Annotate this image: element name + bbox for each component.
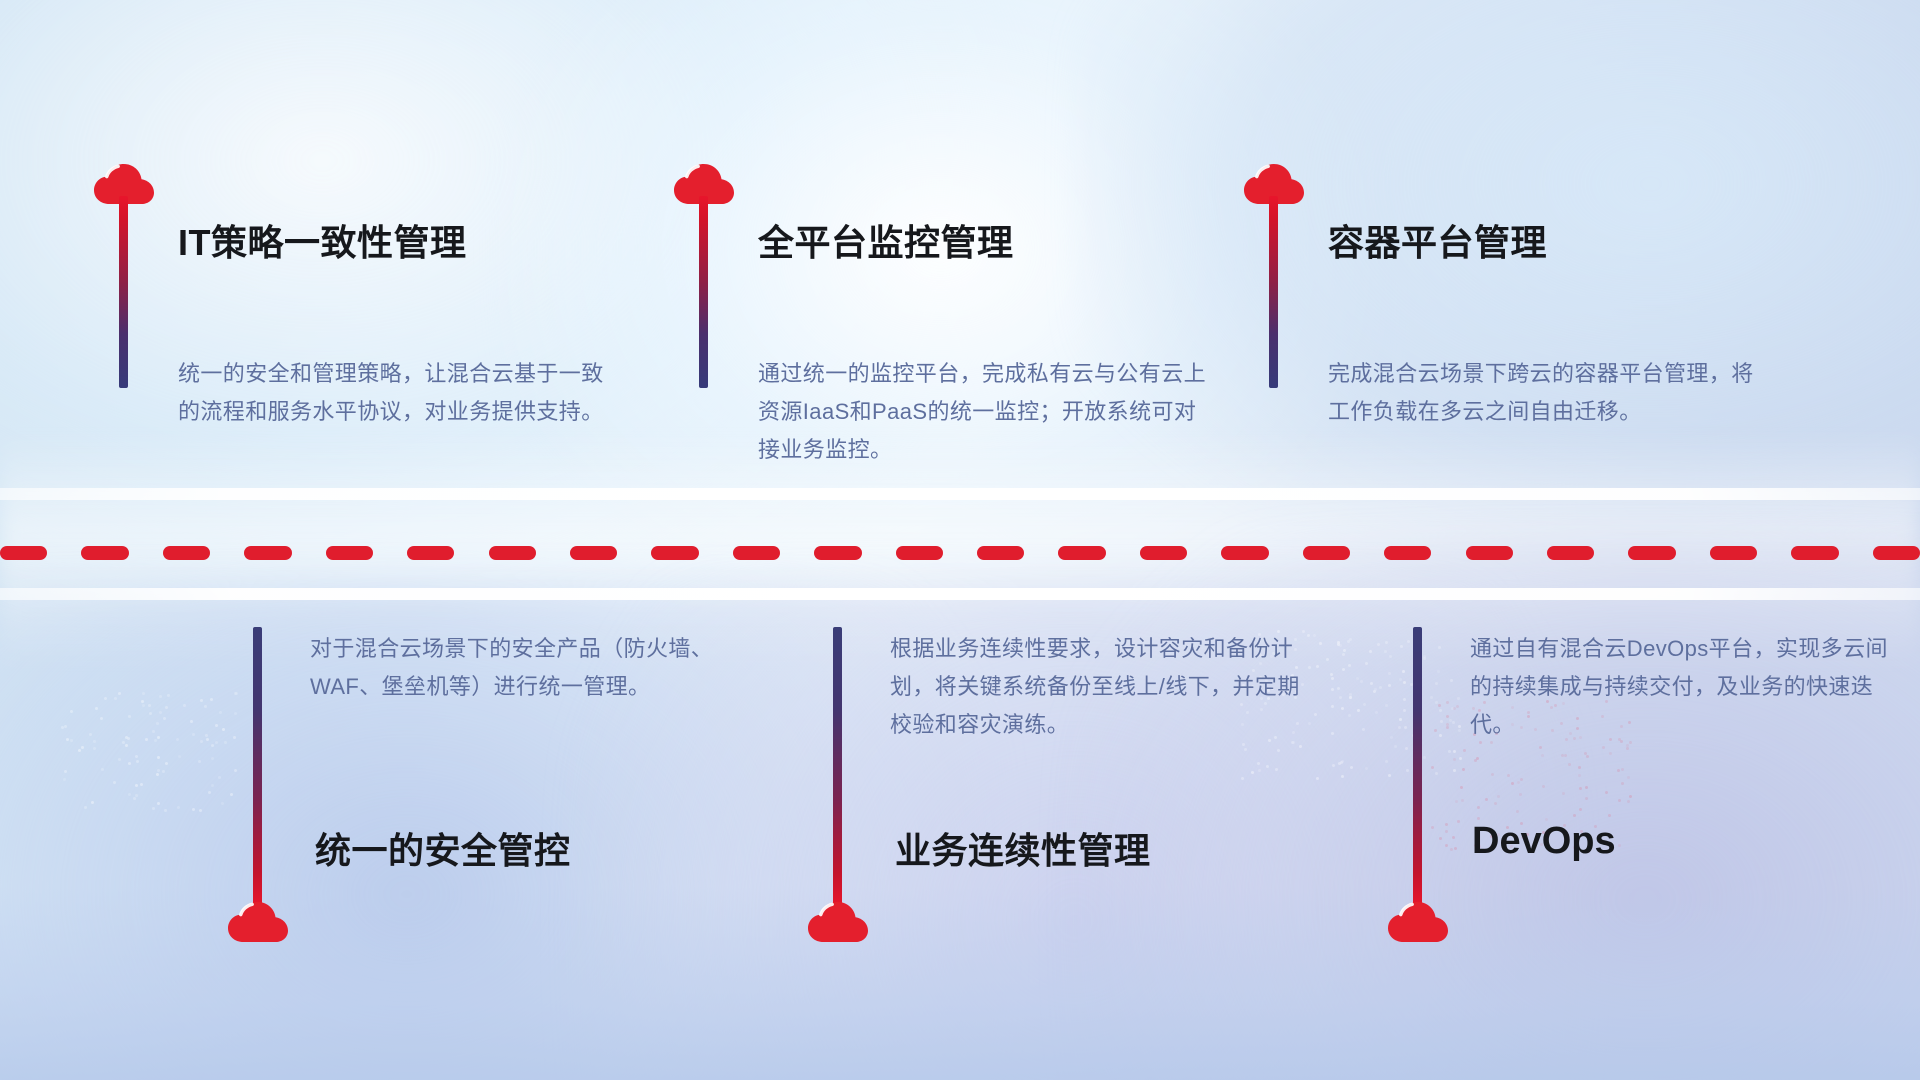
section-heading: 统一的安全管控 (315, 822, 571, 874)
divider-bar-top (0, 488, 1920, 500)
section-heading: IT策略一致性管理 (178, 214, 467, 266)
decorative-dots-left (60, 690, 240, 810)
section-heading: 业务连续性管理 (895, 822, 1151, 874)
section-body: 通过统一的监控平台，完成私有云与公有云上资源IaaS和PaaS的统一监控；开放系… (758, 355, 1208, 469)
connector-line (119, 196, 128, 388)
section-body: 根据业务连续性要求，设计容灾和备份计划，将关键系统备份至线上/线下，并定期校验和… (890, 630, 1320, 744)
divider-bar-bottom (0, 588, 1920, 600)
section-heading: 容器平台管理 (1328, 214, 1547, 266)
connector-line (1413, 627, 1422, 907)
section-heading: DevOps (1472, 820, 1616, 863)
connector-line (833, 627, 842, 907)
section-body: 统一的安全和管理策略，让混合云基于一致的流程和服务水平协议，对业务提供支持。 (178, 355, 608, 431)
divider-dashed-line (0, 546, 1920, 560)
connector-line (253, 627, 262, 907)
connector-line (699, 196, 708, 388)
section-heading: 全平台监控管理 (758, 214, 1014, 266)
cloud-icon (226, 898, 290, 944)
infographic-canvas: IT策略一致性管理 统一的安全和管理策略，让混合云基于一致的流程和服务水平协议，… (0, 0, 1920, 1080)
connector-line (1269, 196, 1278, 388)
section-body: 对于混合云场景下的安全产品（防火墙、WAF、堡垒机等）进行统一管理。 (310, 630, 740, 706)
section-body: 完成混合云场景下跨云的容器平台管理，将工作负载在多云之间自由迁移。 (1328, 355, 1768, 431)
cloud-icon (1386, 898, 1450, 944)
cloud-icon (806, 898, 870, 944)
section-body: 通过自有混合云DevOps平台，实现多云间的持续集成与持续交付，及业务的快速迭代… (1470, 630, 1900, 744)
